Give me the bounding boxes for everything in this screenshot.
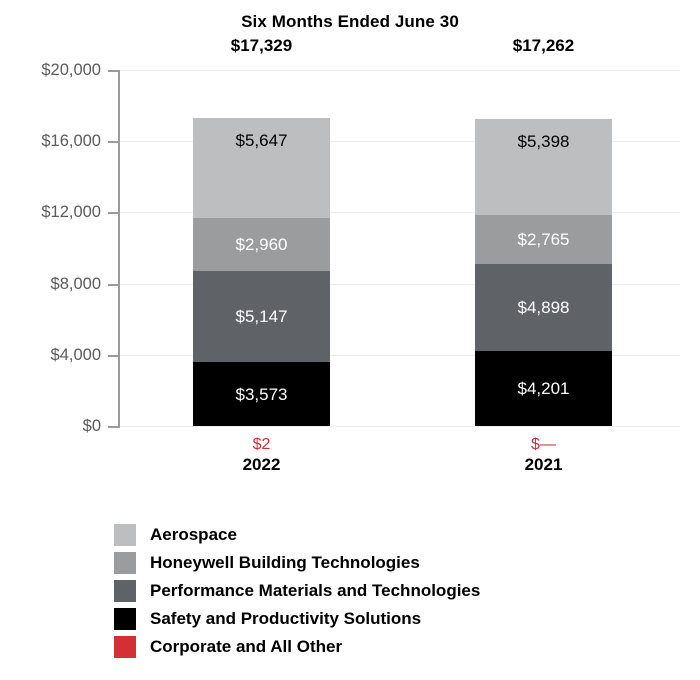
bar-stack-2021: $5,398 $2,765 $4,898 $4,201 — [475, 119, 612, 426]
chart-legend: Aerospace Honeywell Building Technologie… — [114, 521, 480, 661]
bar-segment-hbt-2021[interactable]: $2,765 — [475, 215, 612, 264]
legend-item-aerospace[interactable]: Aerospace — [114, 521, 480, 549]
segment-value-label: $2,765 — [518, 231, 570, 248]
bar-stack-2022: $5,647 $2,960 $5,147 $3,573 — [193, 118, 330, 426]
y-tick-mark-0 — [108, 426, 119, 428]
legend-item-honeywell-building-technologies[interactable]: Honeywell Building Technologies — [114, 549, 480, 577]
x-category-2021: 2021 — [475, 454, 612, 475]
y-tick-mark-16000 — [108, 141, 119, 143]
segment-value-label: $3,573 — [236, 386, 288, 403]
plot-area: $17,329 $5,647 $2,960 $5,147 $3,573 $17,… — [118, 70, 680, 426]
y-axis-labels: $20,000 $16,000 $12,000 $8,000 $4,000 $0 — [0, 0, 101, 680]
legend-swatch-icon — [114, 524, 136, 546]
legend-item-label: Performance Materials and Technologies — [150, 581, 480, 601]
bar-segment-pmt-2021[interactable]: $4,898 — [475, 264, 612, 351]
bar-segment-sps-2022[interactable]: $3,573 — [193, 362, 330, 426]
legend-item-label: Safety and Productivity Solutions — [150, 609, 421, 629]
gridline-0 — [118, 426, 680, 427]
segment-value-label: $5,398 — [518, 133, 570, 150]
legend-item-performance-materials-and-technologies[interactable]: Performance Materials and Technologies — [114, 577, 480, 605]
legend-item-safety-and-productivity-solutions[interactable]: Safety and Productivity Solutions — [114, 605, 480, 633]
bar-total-label-2021: $17,262 — [475, 36, 612, 56]
y-tick-label-8000: $8,000 — [7, 275, 101, 294]
corporate-value-2022: $2 — [193, 437, 330, 454]
y-tick-label-0: $0 — [7, 417, 101, 436]
bar-total-label-2022: $17,329 — [193, 36, 330, 56]
legend-swatch-icon — [114, 580, 136, 602]
segment-value-label: $2,960 — [236, 236, 288, 253]
legend-swatch-icon — [114, 552, 136, 574]
y-tick-label-12000: $12,000 — [7, 203, 101, 222]
segment-value-label: $4,898 — [518, 299, 570, 316]
legend-item-corporate-and-all-other[interactable]: Corporate and All Other — [114, 633, 480, 661]
legend-swatch-icon — [114, 636, 136, 658]
x-category-2022: 2022 — [193, 454, 330, 475]
segment-value-label: $5,147 — [236, 308, 288, 325]
x-axis-label-2021: $— 2021 — [475, 437, 612, 475]
bar-segment-hbt-2022[interactable]: $2,960 — [193, 218, 330, 271]
y-tick-mark-8000 — [108, 284, 119, 286]
y-tick-mark-4000 — [108, 355, 119, 357]
x-axis-label-2022: $2 2022 — [193, 437, 330, 475]
y-axis-spine — [118, 70, 120, 428]
chart-title: Six Months Ended June 30 — [0, 12, 700, 32]
y-tick-mark-20000 — [108, 70, 119, 72]
y-tick-label-4000: $4,000 — [7, 346, 101, 365]
legend-swatch-icon — [114, 608, 136, 630]
bar-segment-aerospace-2022[interactable]: $5,647 — [193, 118, 330, 219]
bar-group-2021[interactable]: $17,262 $5,398 $2,765 $4,898 $4,201 — [475, 70, 612, 426]
segment-value-label: $4,201 — [518, 380, 570, 397]
y-tick-mark-12000 — [108, 212, 119, 214]
bar-segment-aerospace-2021[interactable]: $5,398 — [475, 119, 612, 215]
legend-item-label: Honeywell Building Technologies — [150, 553, 420, 573]
y-tick-label-16000: $16,000 — [7, 132, 101, 151]
bar-segment-sps-2021[interactable]: $4,201 — [475, 351, 612, 426]
segment-value-label: $5,647 — [236, 132, 288, 149]
stacked-bar-chart: Six Months Ended June 30 $17,329 $5,647 … — [0, 0, 700, 680]
bar-group-2022[interactable]: $17,329 $5,647 $2,960 $5,147 $3,573 — [193, 70, 330, 426]
legend-item-label: Corporate and All Other — [150, 637, 342, 657]
y-tick-label-20000: $20,000 — [7, 61, 101, 80]
bar-segment-pmt-2022[interactable]: $5,147 — [193, 271, 330, 363]
corporate-value-2021: $— — [475, 437, 612, 454]
legend-item-label: Aerospace — [150, 525, 237, 545]
